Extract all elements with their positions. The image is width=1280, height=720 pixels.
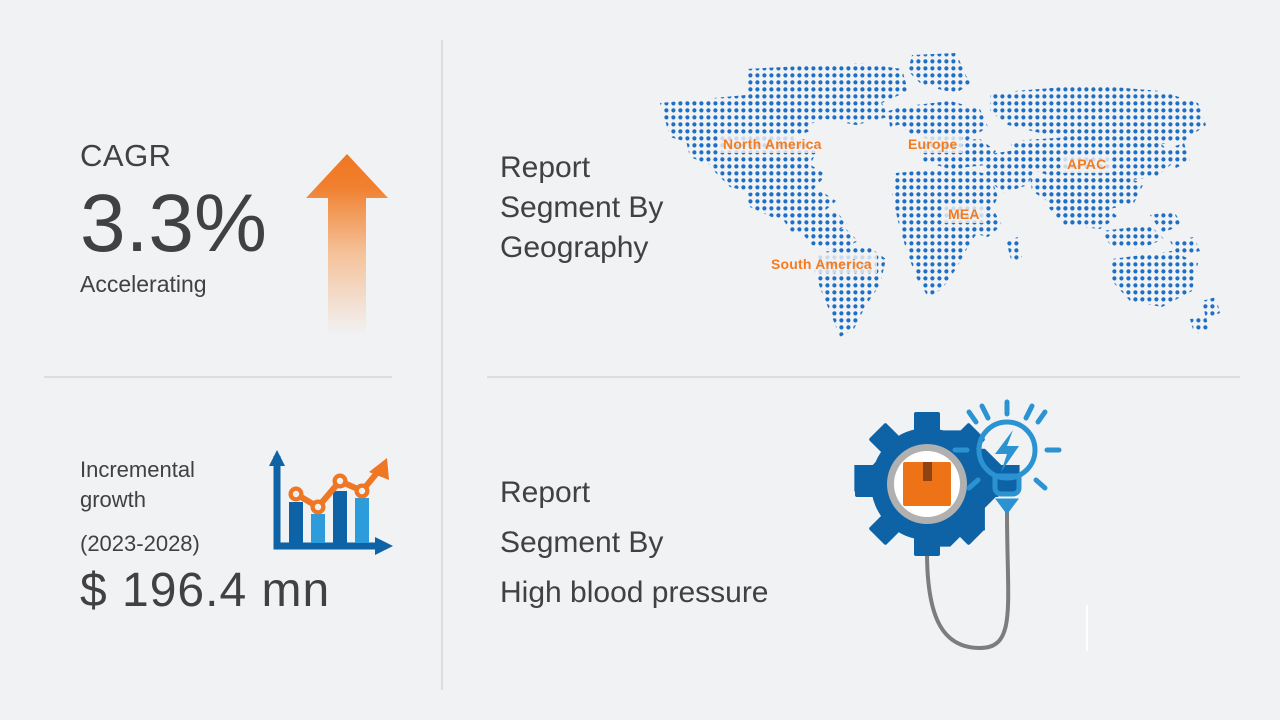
world-map-icon [650,45,1220,345]
map-region-label-south-america: South America [766,255,877,273]
map-region-label-north-america: North America [718,135,827,153]
right-horizontal-divider [487,376,1240,378]
left-horizontal-divider [44,376,392,378]
segment-title-line-2: Segment By [500,518,860,568]
segment-title: Report Segment By High blood pressure [500,468,860,618]
gear-lightbulb-icon [845,392,1115,662]
map-region-label-mea: MEA [943,205,985,223]
vertical-divider [441,40,443,690]
incremental-growth-panel: Incremental growth (2023-2028) $ 196.4 m… [80,455,420,617]
bar-line-chart-icon [265,450,395,560]
segment-title-line-1: Report [500,468,860,518]
map-region-label-apac: APAC [1062,155,1111,173]
up-arrow-icon [302,150,392,335]
segment-title-line-3: High blood pressure [500,568,860,618]
growth-label: Incremental growth [80,455,260,515]
growth-value: $ 196.4 mn [80,565,420,617]
infographic-slide: CAGR 3.3% Accelerating Incremental growt… [0,0,1280,720]
map-region-label-europe: Europe [903,135,962,153]
cagr-panel: CAGR 3.3% Accelerating [80,140,410,296]
